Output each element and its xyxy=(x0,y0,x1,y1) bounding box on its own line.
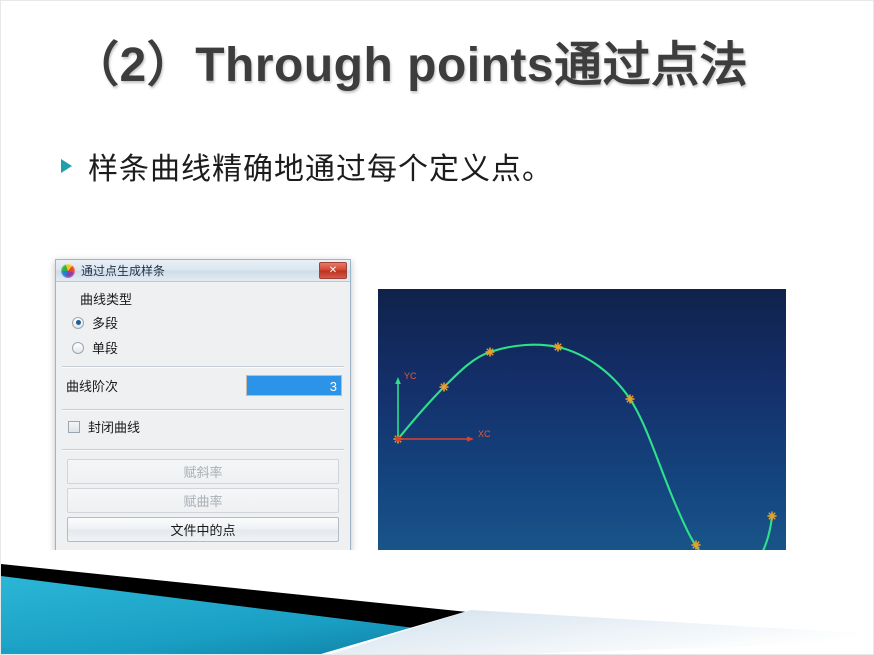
radio-single-segment[interactable]: 单段 xyxy=(56,335,350,360)
radio-single-segment-label: 单段 xyxy=(92,338,118,357)
dialog-body: 曲线类型 多段 单段 曲线阶次 3 封闭曲线 赋斜率 xyxy=(56,282,350,552)
bullet-text: 样条曲线精确地通过每个定义点。 xyxy=(88,144,553,188)
page-title: （2）Through points通过点法 xyxy=(71,39,831,93)
nx-app-icon xyxy=(61,264,75,278)
defining-point xyxy=(440,383,449,392)
action-button-group: 赋斜率 赋曲率 文件中的点 xyxy=(56,451,350,552)
closed-curve-label: 封闭曲线 xyxy=(88,417,140,436)
closed-curve-checkbox-indicator[interactable] xyxy=(68,421,80,433)
bullet-row: 样条曲线精确地通过每个定义点。 xyxy=(61,144,553,188)
curve-degree-label: 曲线阶次 xyxy=(66,376,246,395)
presentation-slide: （2）Through points通过点法 样条曲线精确地通过每个定义点。 通过… xyxy=(0,0,874,655)
close-icon[interactable]: ✕ xyxy=(319,262,347,279)
xc-axis-label: XC xyxy=(478,429,491,439)
radio-multi-segment-label: 多段 xyxy=(92,313,118,332)
viewport-background xyxy=(378,289,786,581)
defining-point xyxy=(768,512,777,521)
defining-point xyxy=(554,343,563,352)
defining-point xyxy=(486,348,495,357)
through-points-spline-dialog: 通过点生成样条 ✕ 曲线类型 多段 单段 曲线阶次 3 封闭曲线 xyxy=(55,259,351,597)
radio-multi-segment[interactable]: 多段 xyxy=(56,310,350,335)
assign-slope-button[interactable]: 赋斜率 xyxy=(67,459,339,484)
cad-spline-viewport[interactable]: YC XC xyxy=(378,289,786,581)
dialog-title: 通过点生成样条 xyxy=(81,262,319,279)
closed-curve-checkbox[interactable]: 封闭曲线 xyxy=(56,411,350,443)
triangle-right-icon xyxy=(61,159,72,173)
curve-type-group-label: 曲线类型 xyxy=(56,282,350,310)
curve-degree-row: 曲线阶次 3 xyxy=(56,368,350,403)
slide-footer-decoration xyxy=(1,550,874,654)
radio-multi-segment-indicator[interactable] xyxy=(72,317,84,329)
defining-point xyxy=(692,541,701,550)
points-from-file-button[interactable]: 文件中的点 xyxy=(67,517,339,542)
wcs-origin xyxy=(396,437,401,442)
defining-point xyxy=(626,395,635,404)
dialog-titlebar[interactable]: 通过点生成样条 ✕ xyxy=(56,260,350,282)
yc-axis-label: YC xyxy=(404,371,417,381)
assign-curvature-button[interactable]: 赋曲率 xyxy=(67,488,339,513)
curve-degree-input[interactable]: 3 xyxy=(246,375,342,396)
radio-single-segment-indicator[interactable] xyxy=(72,342,84,354)
